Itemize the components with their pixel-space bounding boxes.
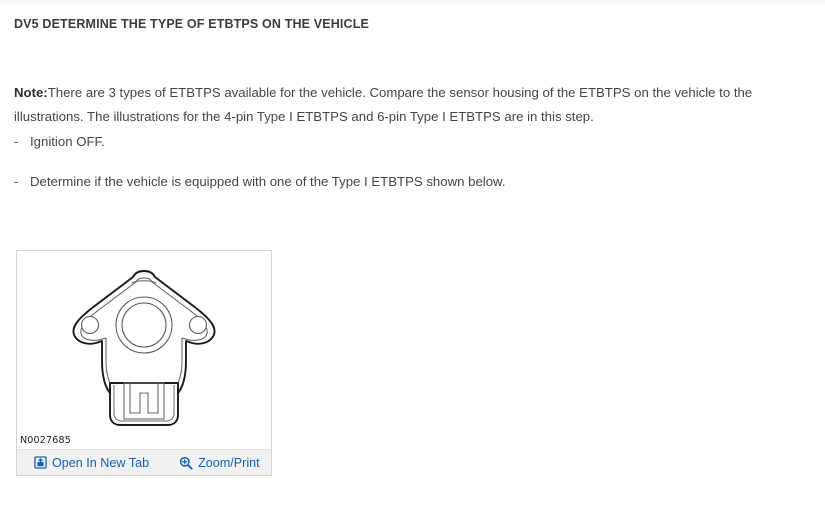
- bullet-dash-icon: -: [14, 133, 30, 151]
- figure-image[interactable]: [17, 251, 271, 430]
- open-in-new-tab-icon: [33, 456, 47, 470]
- page-root: DV5 DETERMINE THE TYPE OF ETBTPS ON THE …: [0, 0, 825, 508]
- note-text: There are 3 types of ETBTPS available fo…: [14, 85, 752, 124]
- figure-container: N0027685 Open In New Tab: [16, 250, 272, 476]
- step-item-ignition-off: -Ignition OFF.: [14, 133, 105, 151]
- figure-caption: N0027685: [20, 435, 71, 446]
- step-text: Ignition OFF.: [30, 134, 105, 149]
- bullet-dash-icon: -: [14, 173, 30, 191]
- note-label: Note:: [14, 85, 48, 100]
- step-item-determine-type: -Determine if the vehicle is equipped wi…: [14, 173, 506, 191]
- zoom-print-button[interactable]: Zoom/Print: [179, 456, 260, 470]
- etbtps-sensor-illustration-svg: [44, 253, 244, 430]
- step-text: Determine if the vehicle is equipped wit…: [30, 174, 506, 189]
- open-in-new-tab-label: Open In New Tab: [52, 456, 149, 470]
- open-in-new-tab-button[interactable]: Open In New Tab: [33, 456, 149, 470]
- zoom-print-label: Zoom/Print: [198, 456, 260, 470]
- page-title: DV5 DETERMINE THE TYPE OF ETBTPS ON THE …: [14, 17, 369, 31]
- page-top-gradient: [0, 0, 825, 6]
- magnifier-plus-icon: [179, 456, 193, 470]
- note-paragraph: Note:There are 3 types of ETBTPS availab…: [14, 81, 798, 129]
- figure-toolbar: Open In New Tab Zoom/Print: [17, 449, 271, 475]
